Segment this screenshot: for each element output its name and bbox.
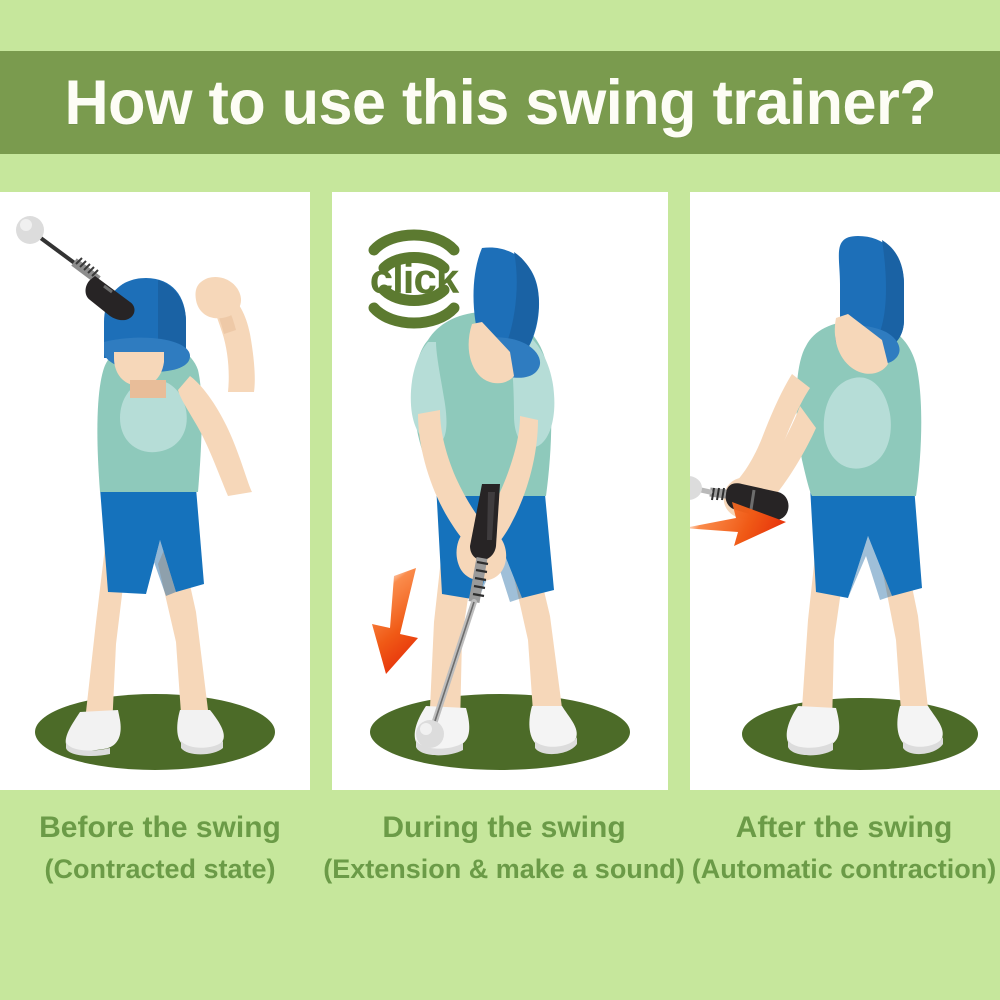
panel-after-the-swing[interactable] <box>690 192 1000 790</box>
shorts <box>810 486 922 598</box>
hand-grip <box>196 277 242 318</box>
swing-trainer-contracted <box>16 216 135 320</box>
caption-before-the-swing: Before the swing (Contracted state) <box>0 800 320 910</box>
trainer-head-ball <box>690 476 702 500</box>
header-bar: How to use this swing trainer? <box>0 51 1000 154</box>
illustration-after-the-swing <box>690 192 1000 790</box>
trainer-head-ball-highlight <box>20 219 32 231</box>
page-title: How to use this swing trainer? <box>64 67 936 139</box>
infographic-root: How to use this swing trainer? <box>0 0 1000 1000</box>
trainer-head-ball <box>416 720 444 748</box>
caption-title: After the swing <box>736 810 953 846</box>
trainer-head-ball <box>16 216 44 244</box>
panel-row: click <box>0 192 1000 790</box>
caption-subtitle: (Contracted state) <box>44 851 275 887</box>
ground-ellipse <box>370 694 630 770</box>
trainer-head-ball-highlight <box>420 723 432 735</box>
caption-subtitle: (Extension & make a sound) <box>323 851 685 887</box>
panel-during-the-swing[interactable]: click <box>332 192 668 790</box>
shorts <box>100 488 204 594</box>
illustration-before-the-swing <box>0 192 310 790</box>
click-sound-badge: click <box>358 220 470 336</box>
neck <box>130 380 166 398</box>
caption-subtitle: (Automatic contraction) <box>692 851 997 887</box>
caption-row: Before the swing (Contracted state) Duri… <box>0 800 1000 910</box>
caption-during-the-swing: During the swing (Extension & make a sou… <box>320 800 688 910</box>
click-label: click <box>358 258 470 300</box>
arrow-down-icon <box>372 568 418 674</box>
panel-before-the-swing[interactable] <box>0 192 310 790</box>
caption-title: Before the swing <box>39 810 281 846</box>
caption-title: During the swing <box>382 810 625 846</box>
caption-after-the-swing: After the swing (Automatic contraction) <box>688 800 1000 910</box>
